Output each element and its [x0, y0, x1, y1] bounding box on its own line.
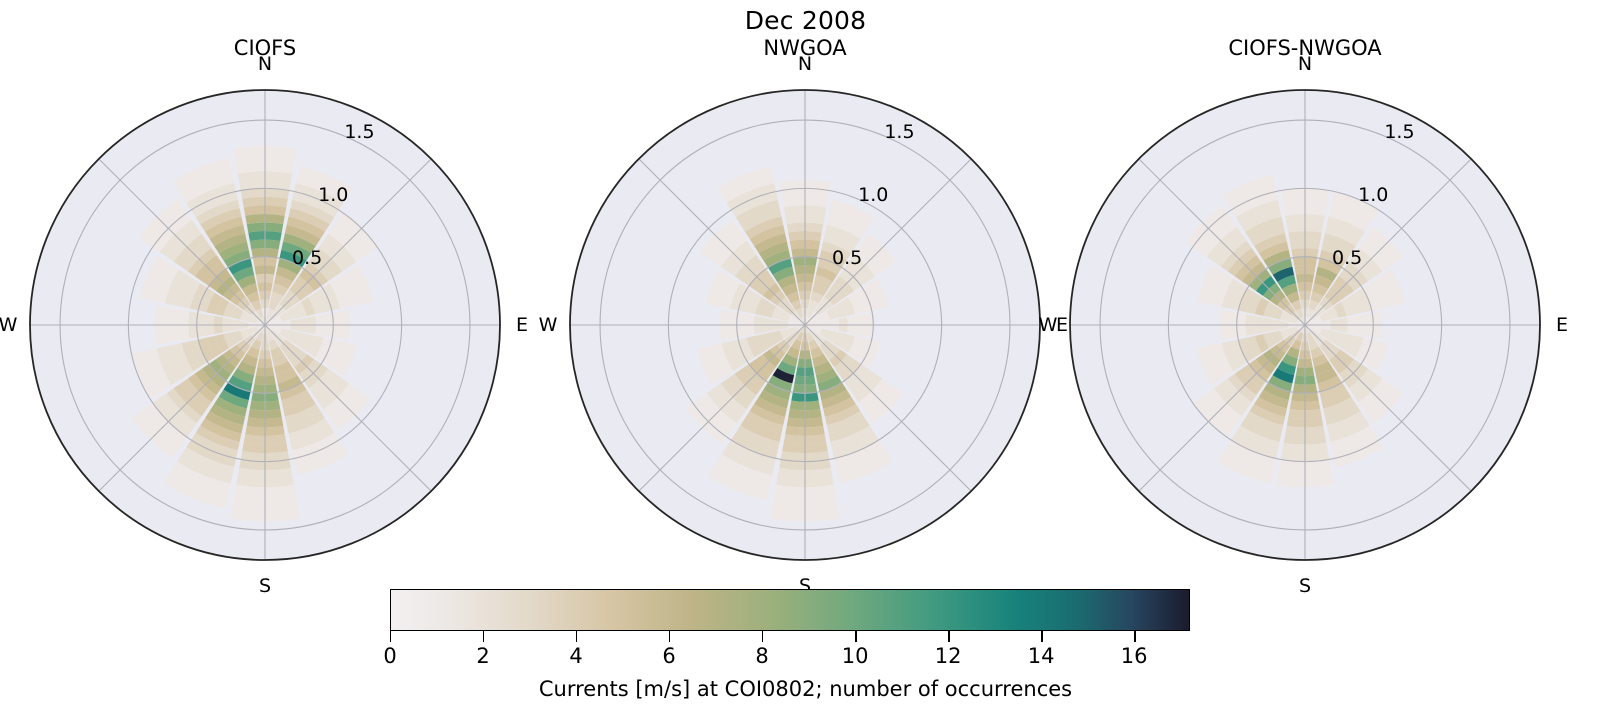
colorbar-tick — [483, 631, 484, 642]
colorbar-tick-label: 4 — [569, 644, 582, 668]
polar-axes-ciofs-nwgoa[interactable] — [1064, 84, 1546, 566]
colorbar-tick — [1041, 631, 1042, 642]
colorbar-group: 0246810121416 Currents [m/s] at COI0802;… — [0, 579, 1611, 724]
colorbar-tick-label: 8 — [755, 644, 768, 668]
colorbar-tick — [855, 631, 856, 642]
colorbar-tick-label: 2 — [476, 644, 489, 668]
colorbar-tick — [576, 631, 577, 642]
colorbar-tick — [1134, 631, 1135, 642]
colorbar-tick — [669, 631, 670, 642]
radial-tick-label: 0.5 — [1332, 247, 1362, 269]
radial-tick-label: 1.0 — [1358, 184, 1388, 206]
panel-ciofs-nwgoa: CIOFS-NWGOANESW0.51.01.5 — [0, 0, 1611, 600]
colorbar-tick — [948, 631, 949, 642]
radial-tick-label: 1.5 — [1384, 121, 1414, 143]
colorbar[interactable] — [390, 589, 1190, 631]
colorbar-label: Currents [m/s] at COI0802; number of occ… — [0, 677, 1611, 701]
colorbar-tick-label: 14 — [1028, 644, 1055, 668]
colorbar-tick — [762, 631, 763, 642]
colorbar-tick-label: 0 — [383, 644, 396, 668]
colorbar-gradient — [391, 590, 1189, 630]
compass-label-n: N — [1298, 53, 1312, 75]
compass-label-e: E — [1556, 314, 1568, 336]
colorbar-tick — [390, 631, 391, 642]
colorbar-ticks: 0246810121416 — [390, 631, 1190, 643]
colorbar-tick-label: 16 — [1121, 644, 1148, 668]
colorbar-tick-label: 10 — [842, 644, 869, 668]
figure-root: Dec 2008 CIOFSNESW0.51.01.5NWGOANESW0.51… — [0, 0, 1611, 724]
colorbar-tick-label: 12 — [935, 644, 962, 668]
compass-label-w: W — [1039, 314, 1058, 336]
colorbar-tick-label: 6 — [662, 644, 675, 668]
